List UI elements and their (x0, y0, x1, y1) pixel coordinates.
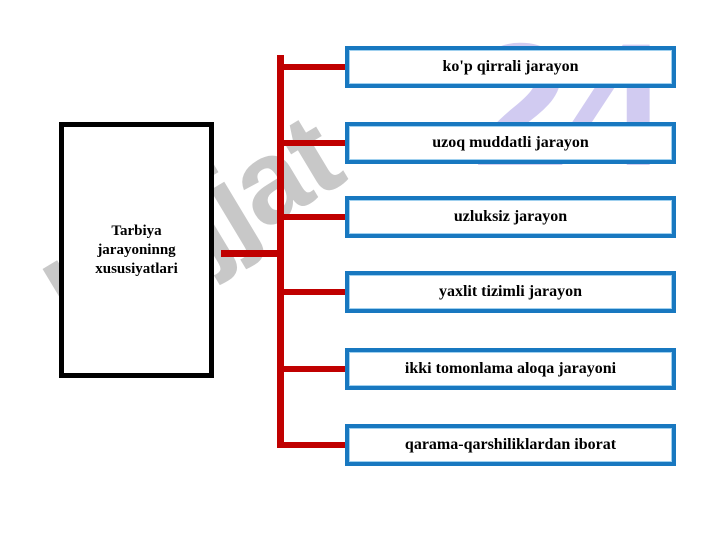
root-node-label: Tarbiya jarayoninng xususiyatlari (91, 222, 182, 279)
leaf-node-label-1: ko'p qirrali jarayon (442, 58, 578, 76)
leaf-node-box-5[interactable]: ikki tomonlama aloqa jarayoni (345, 348, 676, 390)
leaf-node-box-4[interactable]: yaxlit tizimli jarayon (345, 271, 676, 313)
connector-branch-leaf-2 (280, 140, 346, 146)
connector-branch-leaf-3 (280, 214, 346, 220)
root-node-box[interactable]: Tarbiya jarayoninng xususiyatlari (59, 122, 214, 378)
leaf-node-box-3[interactable]: uzluksiz jarayon (345, 196, 676, 238)
leaf-node-label-4: yaxlit tizimli jarayon (439, 283, 582, 301)
leaf-node-label-5: ikki tomonlama aloqa jarayoni (405, 360, 616, 378)
connector-branch-leaf-4 (280, 289, 346, 295)
connector-branch-to-root (221, 250, 283, 257)
connector-branch-leaf-5 (280, 366, 346, 372)
leaf-node-label-6: qarama-qarshiliklardan iborat (405, 436, 616, 454)
connector-branch-leaf-6 (280, 442, 346, 448)
diagram-canvas: Hujjat 24 Tarbiya jarayoninng xususiyatl… (0, 0, 720, 540)
leaf-node-box-2[interactable]: uzoq muddatli jarayon (345, 122, 676, 164)
leaf-node-box-1[interactable]: ko'p qirrali jarayon (345, 46, 676, 88)
connector-branch-leaf-1 (280, 64, 346, 70)
watermark-24: 24 (472, 18, 667, 193)
leaf-node-label-3: uzluksiz jarayon (454, 208, 567, 226)
leaf-node-box-6[interactable]: qarama-qarshiliklardan iborat (345, 424, 676, 466)
leaf-node-label-2: uzoq muddatli jarayon (432, 134, 588, 152)
